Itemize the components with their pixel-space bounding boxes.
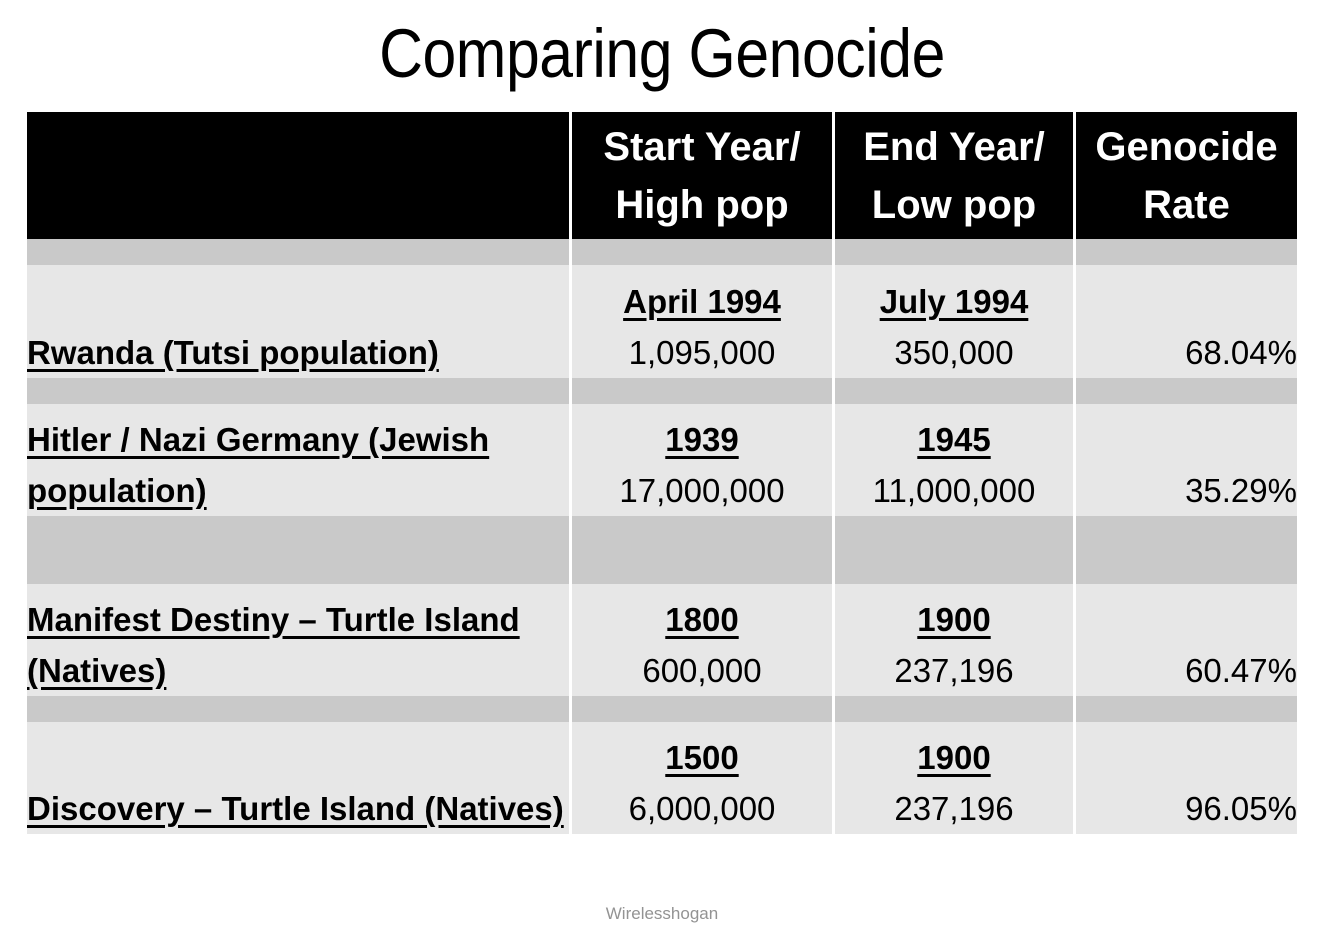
spacer-cell	[572, 516, 835, 584]
row-start-population: 6,000,000	[572, 783, 832, 834]
column-header-genocide-rate-line2: Rate	[1082, 176, 1291, 234]
row-label: Discovery – Turtle Island (Natives)	[27, 722, 572, 834]
row-genocide-rate: 96.05%	[1076, 722, 1297, 834]
spacer-cell	[1076, 378, 1297, 404]
row-start: April 1994 1,095,000	[572, 265, 835, 378]
spacer-row	[27, 239, 1297, 265]
row-label-text: Rwanda (Tutsi population)	[27, 334, 439, 371]
row-label: Rwanda (Tutsi population)	[27, 265, 572, 378]
spacer-cell	[835, 696, 1076, 722]
spacer-cell	[1076, 239, 1297, 265]
row-end-population: 11,000,000	[835, 465, 1073, 516]
column-header-end-year: End Year/ Low pop	[835, 112, 1076, 239]
table-row: Discovery – Turtle Island (Natives) 1500…	[27, 722, 1297, 834]
row-label: Manifest Destiny – Turtle Island (Native…	[27, 584, 572, 696]
spacer-row	[27, 516, 1297, 584]
row-end: 1945 11,000,000	[835, 404, 1076, 516]
column-header-genocide-rate-line1: Genocide	[1082, 118, 1291, 176]
row-genocide-rate: 35.29%	[1076, 404, 1297, 516]
row-label: Hitler / Nazi Germany (Jewish population…	[27, 404, 572, 516]
column-header-end-year-line1: End Year/	[841, 118, 1067, 176]
row-start-year: 1500	[572, 732, 832, 783]
row-genocide-rate: 60.47%	[1076, 584, 1297, 696]
spacer-cell	[27, 516, 572, 584]
row-end-year: 1900	[835, 594, 1073, 645]
row-end: July 1994 350,000	[835, 265, 1076, 378]
spacer-cell	[572, 378, 835, 404]
column-header-label	[27, 112, 572, 239]
row-end-year: 1900	[835, 732, 1073, 783]
spacer-cell	[1076, 516, 1297, 584]
row-genocide-rate: 68.04%	[1076, 265, 1297, 378]
spacer-cell	[835, 378, 1076, 404]
spacer-cell	[1076, 696, 1297, 722]
row-end-population: 237,196	[835, 645, 1073, 696]
row-end-population: 237,196	[835, 783, 1073, 834]
table-header-row: Start Year/ High pop End Year/ Low pop G…	[27, 112, 1297, 239]
spacer-cell	[835, 516, 1076, 584]
column-header-start-year-line2: High pop	[578, 176, 826, 234]
row-start: 1800 600,000	[572, 584, 835, 696]
table-row: Manifest Destiny – Turtle Island (Native…	[27, 584, 1297, 696]
row-label-text: Manifest Destiny – Turtle Island (Native…	[27, 601, 520, 689]
column-header-genocide-rate: Genocide Rate	[1076, 112, 1297, 239]
row-end: 1900 237,196	[835, 584, 1076, 696]
column-header-start-year: Start Year/ High pop	[572, 112, 835, 239]
row-start-population: 600,000	[572, 645, 832, 696]
row-start-year: April 1994	[572, 276, 832, 327]
table-row: Rwanda (Tutsi population) April 1994 1,0…	[27, 265, 1297, 378]
row-start: 1500 6,000,000	[572, 722, 835, 834]
genocide-comparison-table: Start Year/ High pop End Year/ Low pop G…	[27, 112, 1297, 834]
spacer-row	[27, 378, 1297, 404]
footer-credit: Wirelesshogan	[0, 903, 1324, 925]
row-start-year: 1939	[572, 414, 832, 465]
column-header-end-year-line2: Low pop	[841, 176, 1067, 234]
spacer-cell	[27, 378, 572, 404]
row-start: 1939 17,000,000	[572, 404, 835, 516]
row-end: 1900 237,196	[835, 722, 1076, 834]
row-start-year: 1800	[572, 594, 832, 645]
comparison-table-container: Start Year/ High pop End Year/ Low pop G…	[27, 112, 1297, 834]
column-header-start-year-line1: Start Year/	[578, 118, 826, 176]
spacer-cell	[835, 239, 1076, 265]
spacer-row	[27, 696, 1297, 722]
row-label-text: Discovery – Turtle Island (Natives)	[27, 790, 564, 827]
table-row: Hitler / Nazi Germany (Jewish population…	[27, 404, 1297, 516]
spacer-cell	[27, 239, 572, 265]
spacer-cell	[572, 696, 835, 722]
row-label-text: Hitler / Nazi Germany (Jewish population…	[27, 421, 489, 509]
row-end-population: 350,000	[835, 327, 1073, 378]
row-end-year: 1945	[835, 414, 1073, 465]
row-end-year: July 1994	[835, 276, 1073, 327]
row-start-population: 1,095,000	[572, 327, 832, 378]
spacer-cell	[572, 239, 835, 265]
page-title: Comparing Genocide	[79, 12, 1244, 96]
row-start-population: 17,000,000	[572, 465, 832, 516]
spacer-cell	[27, 696, 572, 722]
